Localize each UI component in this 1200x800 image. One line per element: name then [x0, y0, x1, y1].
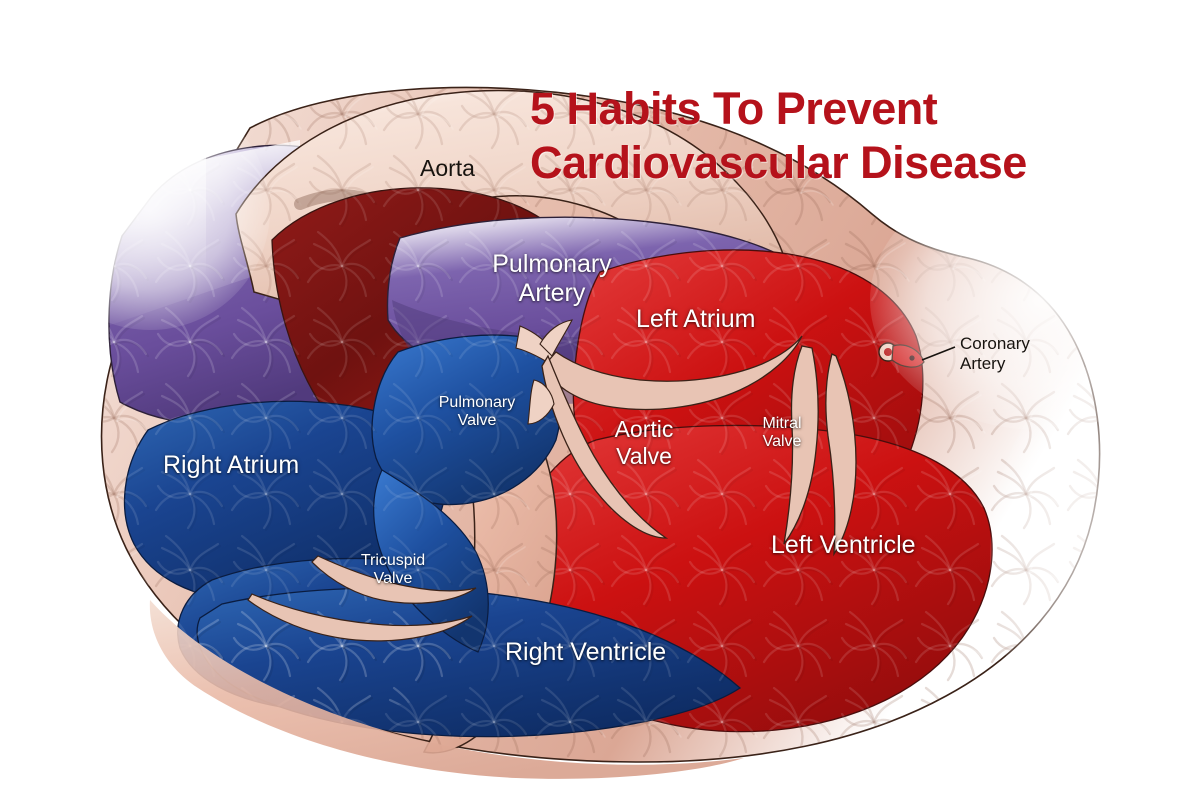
heart-anatomy-diagram	[0, 0, 1200, 800]
infographic-canvas: 5 Habits To Prevent Cardiovascular Disea…	[0, 0, 1200, 800]
